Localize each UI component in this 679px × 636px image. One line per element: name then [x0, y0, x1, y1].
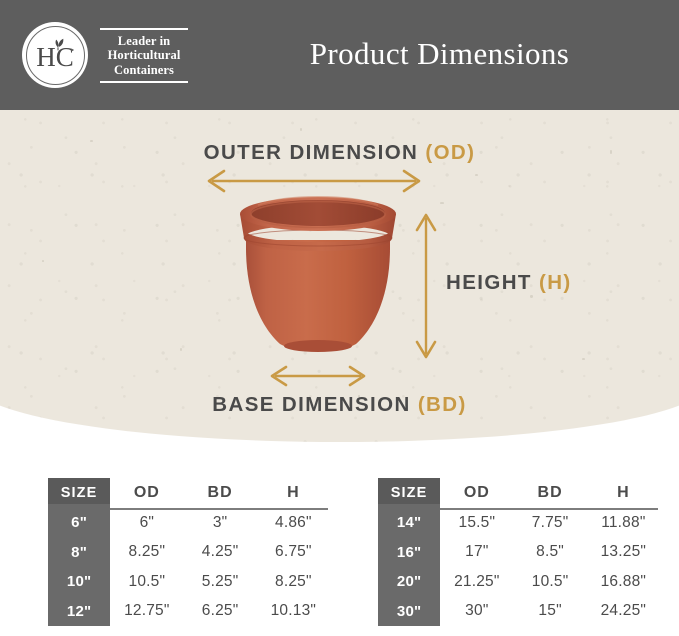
pot-illustration [218, 196, 418, 368]
cell-size: 20" [378, 567, 440, 597]
base-dimension-abbr: (BD) [418, 393, 467, 416]
cell-bd: 10.5" [513, 567, 586, 597]
cell-od: 12.75" [110, 597, 183, 627]
cell-od: 21.25" [440, 567, 513, 597]
table-row: 8" 8.25" 4.25" 6.75" [48, 538, 330, 568]
tagline-rule-bottom [100, 81, 188, 83]
column-header-h: H [257, 478, 330, 508]
cell-bd: 7.75" [513, 508, 586, 538]
cell-size: 8" [48, 538, 110, 568]
table-right: SIZE OD BD H 14" 15.5" 7.75" 11.88" 16" [378, 478, 660, 626]
cell-bd: 5.25" [183, 567, 256, 597]
column-header-bd: BD [513, 478, 586, 508]
cell-h: 13.25" [587, 538, 660, 568]
cell-od: 30" [440, 597, 513, 627]
table-row: 10" 10.5" 5.25" 8.25" [48, 567, 330, 597]
column-header-bd: BD [183, 478, 256, 508]
product-dimensions-infographic: HC Leader in Horticultural Containers Pr… [0, 0, 679, 636]
table-row: 6" 6" 3" 4.86" [48, 508, 330, 538]
cell-size: 12" [48, 597, 110, 627]
table-row: 14" 15.5" 7.75" 11.88" [378, 508, 660, 538]
pot-body [246, 240, 390, 346]
cell-h: 24.25" [587, 597, 660, 627]
cell-od: 15.5" [440, 508, 513, 538]
header-bar: HC Leader in Horticultural Containers Pr… [0, 0, 679, 110]
cell-h: 4.86" [257, 508, 330, 538]
dimension-table-large-sizes: SIZE OD BD H 14" 15.5" 7.75" 11.88" 16" [378, 478, 660, 626]
dimension-table-small-sizes: SIZE OD BD H 6" 6" 3" 4.86" 8" [48, 478, 330, 626]
pot-base [284, 340, 352, 352]
cell-bd: 3" [183, 508, 256, 538]
cell-size: 6" [48, 508, 110, 538]
cell-size: 30" [378, 597, 440, 627]
cell-h: 11.88" [587, 508, 660, 538]
table-row: 30" 30" 15" 24.25" [378, 597, 660, 627]
cell-bd: 6.25" [183, 597, 256, 627]
table-header-row: SIZE OD BD H [48, 478, 330, 508]
cell-od: 6" [110, 508, 183, 538]
cell-bd: 15" [513, 597, 586, 627]
outer-dimension-arrow-icon [200, 168, 428, 194]
height-name: HEIGHT [446, 271, 532, 294]
cell-h: 8.25" [257, 567, 330, 597]
column-header-od: OD [440, 478, 513, 508]
cell-size: 10" [48, 567, 110, 597]
table-row: 16" 17" 8.5" 13.25" [378, 538, 660, 568]
outer-dimension-abbr: (OD) [425, 141, 475, 164]
cell-od: 8.25" [110, 538, 183, 568]
dimension-tables: SIZE OD BD H 6" 6" 3" 4.86" 8" [0, 478, 679, 628]
outer-dimension-name: OUTER DIMENSION [204, 141, 419, 164]
flower-pot-graphic [218, 196, 418, 368]
cell-bd: 4.25" [183, 538, 256, 568]
table-row: 12" 12.75" 6.25" 10.13" [48, 597, 330, 627]
column-header-od: OD [110, 478, 183, 508]
cell-od: 10.5" [110, 567, 183, 597]
page-title: Product Dimensions [0, 36, 679, 72]
height-label: HEIGHT (H) [446, 271, 572, 295]
base-dimension-name: BASE DIMENSION [212, 393, 410, 416]
column-header-size: SIZE [48, 478, 110, 508]
cell-size: 16" [378, 538, 440, 568]
height-abbr: (H) [539, 271, 572, 294]
cell-h: 16.88" [587, 567, 660, 597]
outer-dimension-label: OUTER DIMENSION (OD) [0, 141, 679, 165]
height-arrow-icon [413, 208, 439, 364]
cell-od: 17" [440, 538, 513, 568]
table-left: SIZE OD BD H 6" 6" 3" 4.86" 8" [48, 478, 330, 626]
base-dimension-label: BASE DIMENSION (BD) [0, 393, 679, 417]
column-header-h: H [587, 478, 660, 508]
cell-bd: 8.5" [513, 538, 586, 568]
pot-opening [251, 200, 385, 226]
cell-size: 14" [378, 508, 440, 538]
table-row: 20" 21.25" 10.5" 16.88" [378, 567, 660, 597]
cell-h: 10.13" [257, 597, 330, 627]
cell-h: 6.75" [257, 538, 330, 568]
table-header-row: SIZE OD BD H [378, 478, 660, 508]
column-header-size: SIZE [378, 478, 440, 508]
base-dimension-arrow-icon [264, 364, 372, 388]
